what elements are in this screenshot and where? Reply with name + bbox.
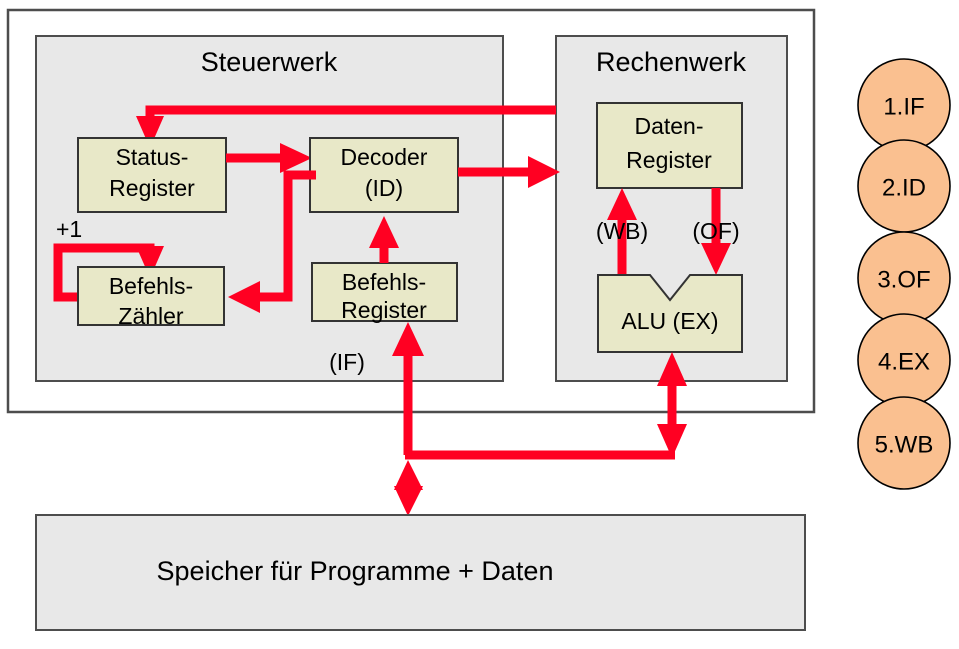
decoder-label-line1: Decoder [341,144,428,170]
alu-label: ALU (EX) [621,308,718,334]
pipeline-stage-1[interactable]: 1.IF [858,59,950,151]
pipeline-stage-2[interactable]: 2.ID [858,140,950,232]
stage-label-of: 3.OF [877,266,930,293]
stage-label-ex: 4.EX [878,348,930,375]
memory-label: Speicher für Programme + Daten [157,556,554,586]
arithmetic-unit-title: Rechenwerk [596,47,747,77]
pipeline-stage-list: 1.IF 2.ID 3.OF 4.EX 5.WB [858,59,950,489]
von-neumann-architecture-diagram: Steuerwerk Rechenwerk Status- Register D… [0,0,959,649]
phase-wb-label: (WB) [596,218,648,244]
status-register-label-line1: Status- [116,144,189,170]
status-register-label-line2: Register [109,175,195,201]
flow-bus-to-memory [394,460,423,516]
data-register-label-line2: Register [626,147,712,173]
phase-of-label: (OF) [692,218,739,244]
stage-label-id: 2.ID [882,174,926,201]
stage-label-if: 1.IF [883,93,924,120]
control-unit-title: Steuerwerk [201,47,338,77]
decoder-label-line2: (ID) [365,175,403,201]
arrowhead-up-bus-memory [394,460,423,490]
instruction-register-label-line2: Register [341,297,427,323]
program-counter-label-line2: Zähler [118,303,184,329]
program-counter-label-line1: Befehls- [109,273,193,299]
pipeline-stage-4[interactable]: 4.EX [858,314,950,406]
pipeline-stage-3[interactable]: 3.OF [858,232,950,324]
data-register-label-line1: Daten- [634,113,703,139]
diagram-canvas: Steuerwerk Rechenwerk Status- Register D… [0,0,959,649]
pipeline-stage-5[interactable]: 5.WB [858,397,950,489]
instruction-register-label-line1: Befehls- [342,269,426,295]
stage-label-wb: 5.WB [875,431,934,458]
arrowhead-down-memory [394,486,423,516]
increment-label: +1 [56,216,82,242]
phase-if-label: (IF) [329,349,365,375]
